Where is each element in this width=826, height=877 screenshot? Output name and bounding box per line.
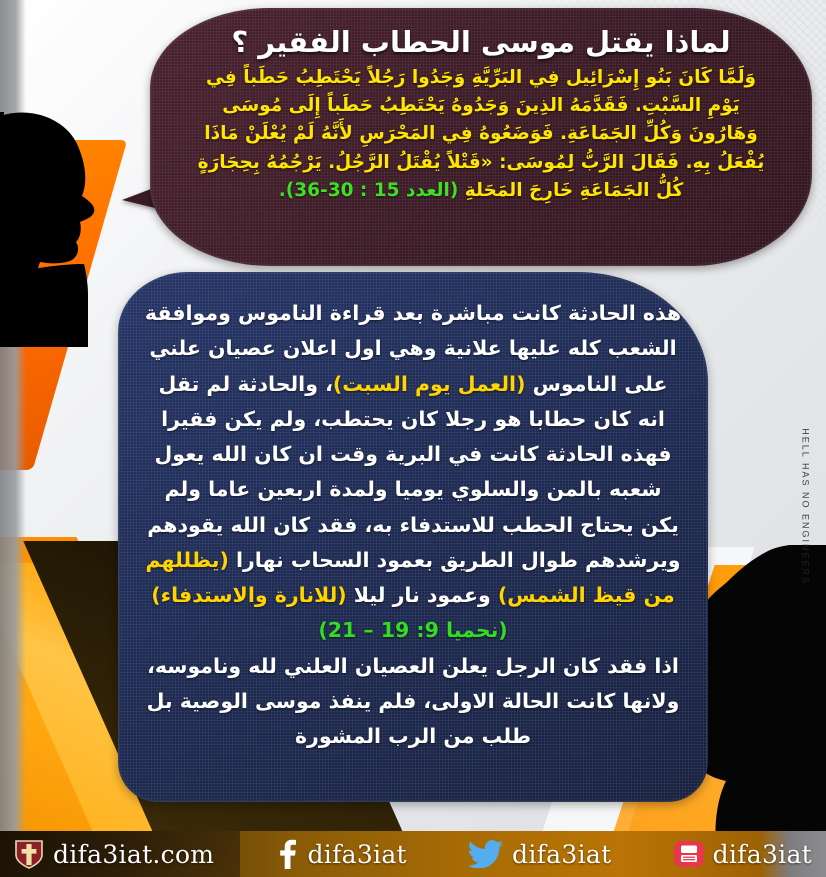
bible-verse-text: وَلَمَّا كَانَ بَنُو إِسْرَائِيل فِي الب… [184,64,778,205]
highlight-fire-light: (للانارة والاستدفاء) [151,583,346,607]
facebook-icon [276,839,298,869]
commentary-text-b: ، والحادثة لم تقل انه كان حطابا هو رجلا … [147,372,680,572]
page-title: لماذا يقتل موسى الحطاب الفقير ؟ [184,24,778,60]
speech-bubble-panel: لماذا يقتل موسى الحطاب الفقير ؟ وَلَمَّا… [150,8,812,266]
footer-label-twitter: difa3iat [512,840,611,869]
shield-cross-icon [14,838,44,870]
verse-reference: (العدد 15 : 30-36). [279,180,459,201]
footer-label-facebook: difa3iat [307,840,406,869]
youtube-icon [674,841,704,867]
footer-item-website[interactable]: difa3iat.com [14,838,214,870]
footer-label-website: difa3iat.com [53,840,214,869]
commentary-reference-nehemiah: (نحميا 9: 19 – 21) [318,618,507,642]
footer-label-youtube: difa3iat [713,840,812,869]
footer-social-list: difa3iat.com difa3iat difa3iat [0,831,826,877]
highlight-sabbath-work: (العمل يوم السبت) [333,372,526,396]
footer-bar: difa3iat.com difa3iat difa3iat [0,831,826,877]
commentary-paragraph-1: هذه الحادثة كانت مباشرة بعد قراءة النامو… [144,296,682,649]
commentary-panel: هذه الحادثة كانت مباشرة بعد قراءة النامو… [118,272,708,802]
commentary-paragraph-2: اذا فقد كان الرجل يعلن العصيان العلني لل… [144,649,682,755]
footer-item-youtube[interactable]: difa3iat [674,840,812,869]
commentary-text-c: وعمود نار ليلا [347,583,498,607]
silhouette-watermark: HELL HAS NO ENGINEERS [797,428,814,585]
twitter-icon [469,840,503,868]
footer-item-twitter[interactable]: difa3iat [469,840,611,869]
footer-item-facebook[interactable]: difa3iat [276,839,406,869]
infographic-canvas: HELL HAS NO ENGINEERS لماذا يقتل موسى ال… [0,0,826,877]
